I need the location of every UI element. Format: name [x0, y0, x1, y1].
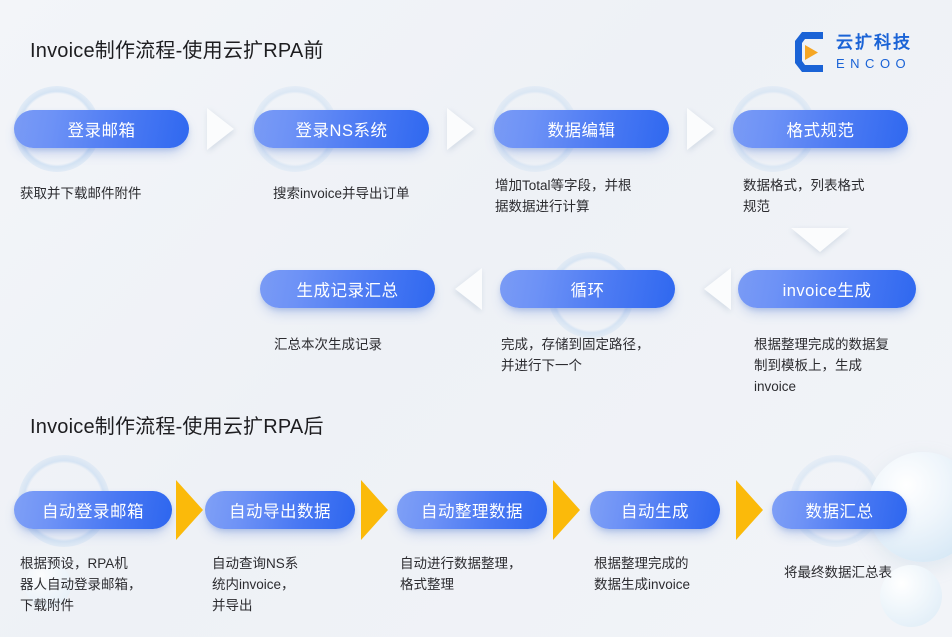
flow-step-pill[interactable]: 登录邮箱 — [14, 110, 189, 148]
arrow-right-icon — [207, 108, 234, 150]
flowchart-canvas: Invoice制作流程-使用云扩RPA前 云扩科技 ENCOO 登录邮箱 登录N… — [0, 0, 952, 637]
section-title-after: Invoice制作流程-使用云扩RPA后 — [30, 410, 324, 439]
arrow-right-icon — [176, 480, 203, 540]
flow-step-pill[interactable]: 数据编辑 — [494, 110, 669, 148]
arrow-right-icon — [553, 480, 580, 540]
flow-step-pill[interactable]: 自动整理数据 — [397, 491, 547, 529]
flow-step-pill[interactable]: 生成记录汇总 — [260, 270, 435, 308]
flow-step-caption: 完成，存储到固定路径， 并进行下一个 — [501, 334, 701, 376]
flow-step-caption: 根据预设，RPA机 器人自动登录邮箱， 下载附件 — [20, 553, 185, 616]
flow-step-caption: 增加Total等字段，并根 据数据进行计算 — [495, 175, 685, 217]
flow-step-pill[interactable]: 自动生成 — [590, 491, 720, 529]
arrow-right-icon — [687, 108, 714, 150]
logo-name-cn: 云扩科技 — [836, 34, 912, 51]
encoo-logo: 云扩科技 ENCOO — [793, 26, 923, 78]
arrow-right-icon — [361, 480, 388, 540]
flow-step-caption: 将最终数据汇总表 — [784, 562, 952, 583]
flow-step-caption: 自动进行数据整理， 格式整理 — [400, 553, 575, 595]
encoo-bracket-logo-icon — [793, 30, 827, 74]
logo-name-en: ENCOO — [836, 57, 912, 70]
arrow-left-icon — [455, 268, 482, 310]
flow-step-caption: 根据整理完成的数据复 制到模板上，生成 invoice — [754, 334, 944, 397]
arrow-right-icon — [447, 108, 474, 150]
arrow-down-icon — [791, 228, 849, 252]
flow-step-caption: 数据格式，列表格式 规范 — [743, 175, 923, 217]
flow-step-pill[interactable]: 登录NS系统 — [254, 110, 429, 148]
logo-wordmark: 云扩科技 ENCOO — [836, 34, 912, 70]
flow-step-caption: 搜索invoice并导出订单 — [273, 183, 483, 204]
flow-step-pill[interactable]: 数据汇总 — [772, 491, 907, 529]
arrow-left-icon — [704, 268, 731, 310]
flow-step-pill[interactable]: 循环 — [500, 270, 675, 308]
flow-step-pill[interactable]: 自动导出数据 — [205, 491, 355, 529]
flow-step-pill[interactable]: 格式规范 — [733, 110, 908, 148]
flow-step-caption: 根据整理完成的 数据生成invoice — [594, 553, 759, 595]
flow-step-caption: 自动查询NS系 统内invoice， 并导出 — [212, 553, 357, 616]
flow-step-pill[interactable]: invoice生成 — [738, 270, 916, 308]
arrow-right-icon — [736, 480, 763, 540]
flow-step-pill[interactable]: 自动登录邮箱 — [14, 491, 172, 529]
flow-step-caption: 获取并下载邮件附件 — [20, 183, 230, 204]
flow-step-caption: 汇总本次生成记录 — [274, 334, 474, 355]
section-title-before: Invoice制作流程-使用云扩RPA前 — [30, 34, 324, 63]
